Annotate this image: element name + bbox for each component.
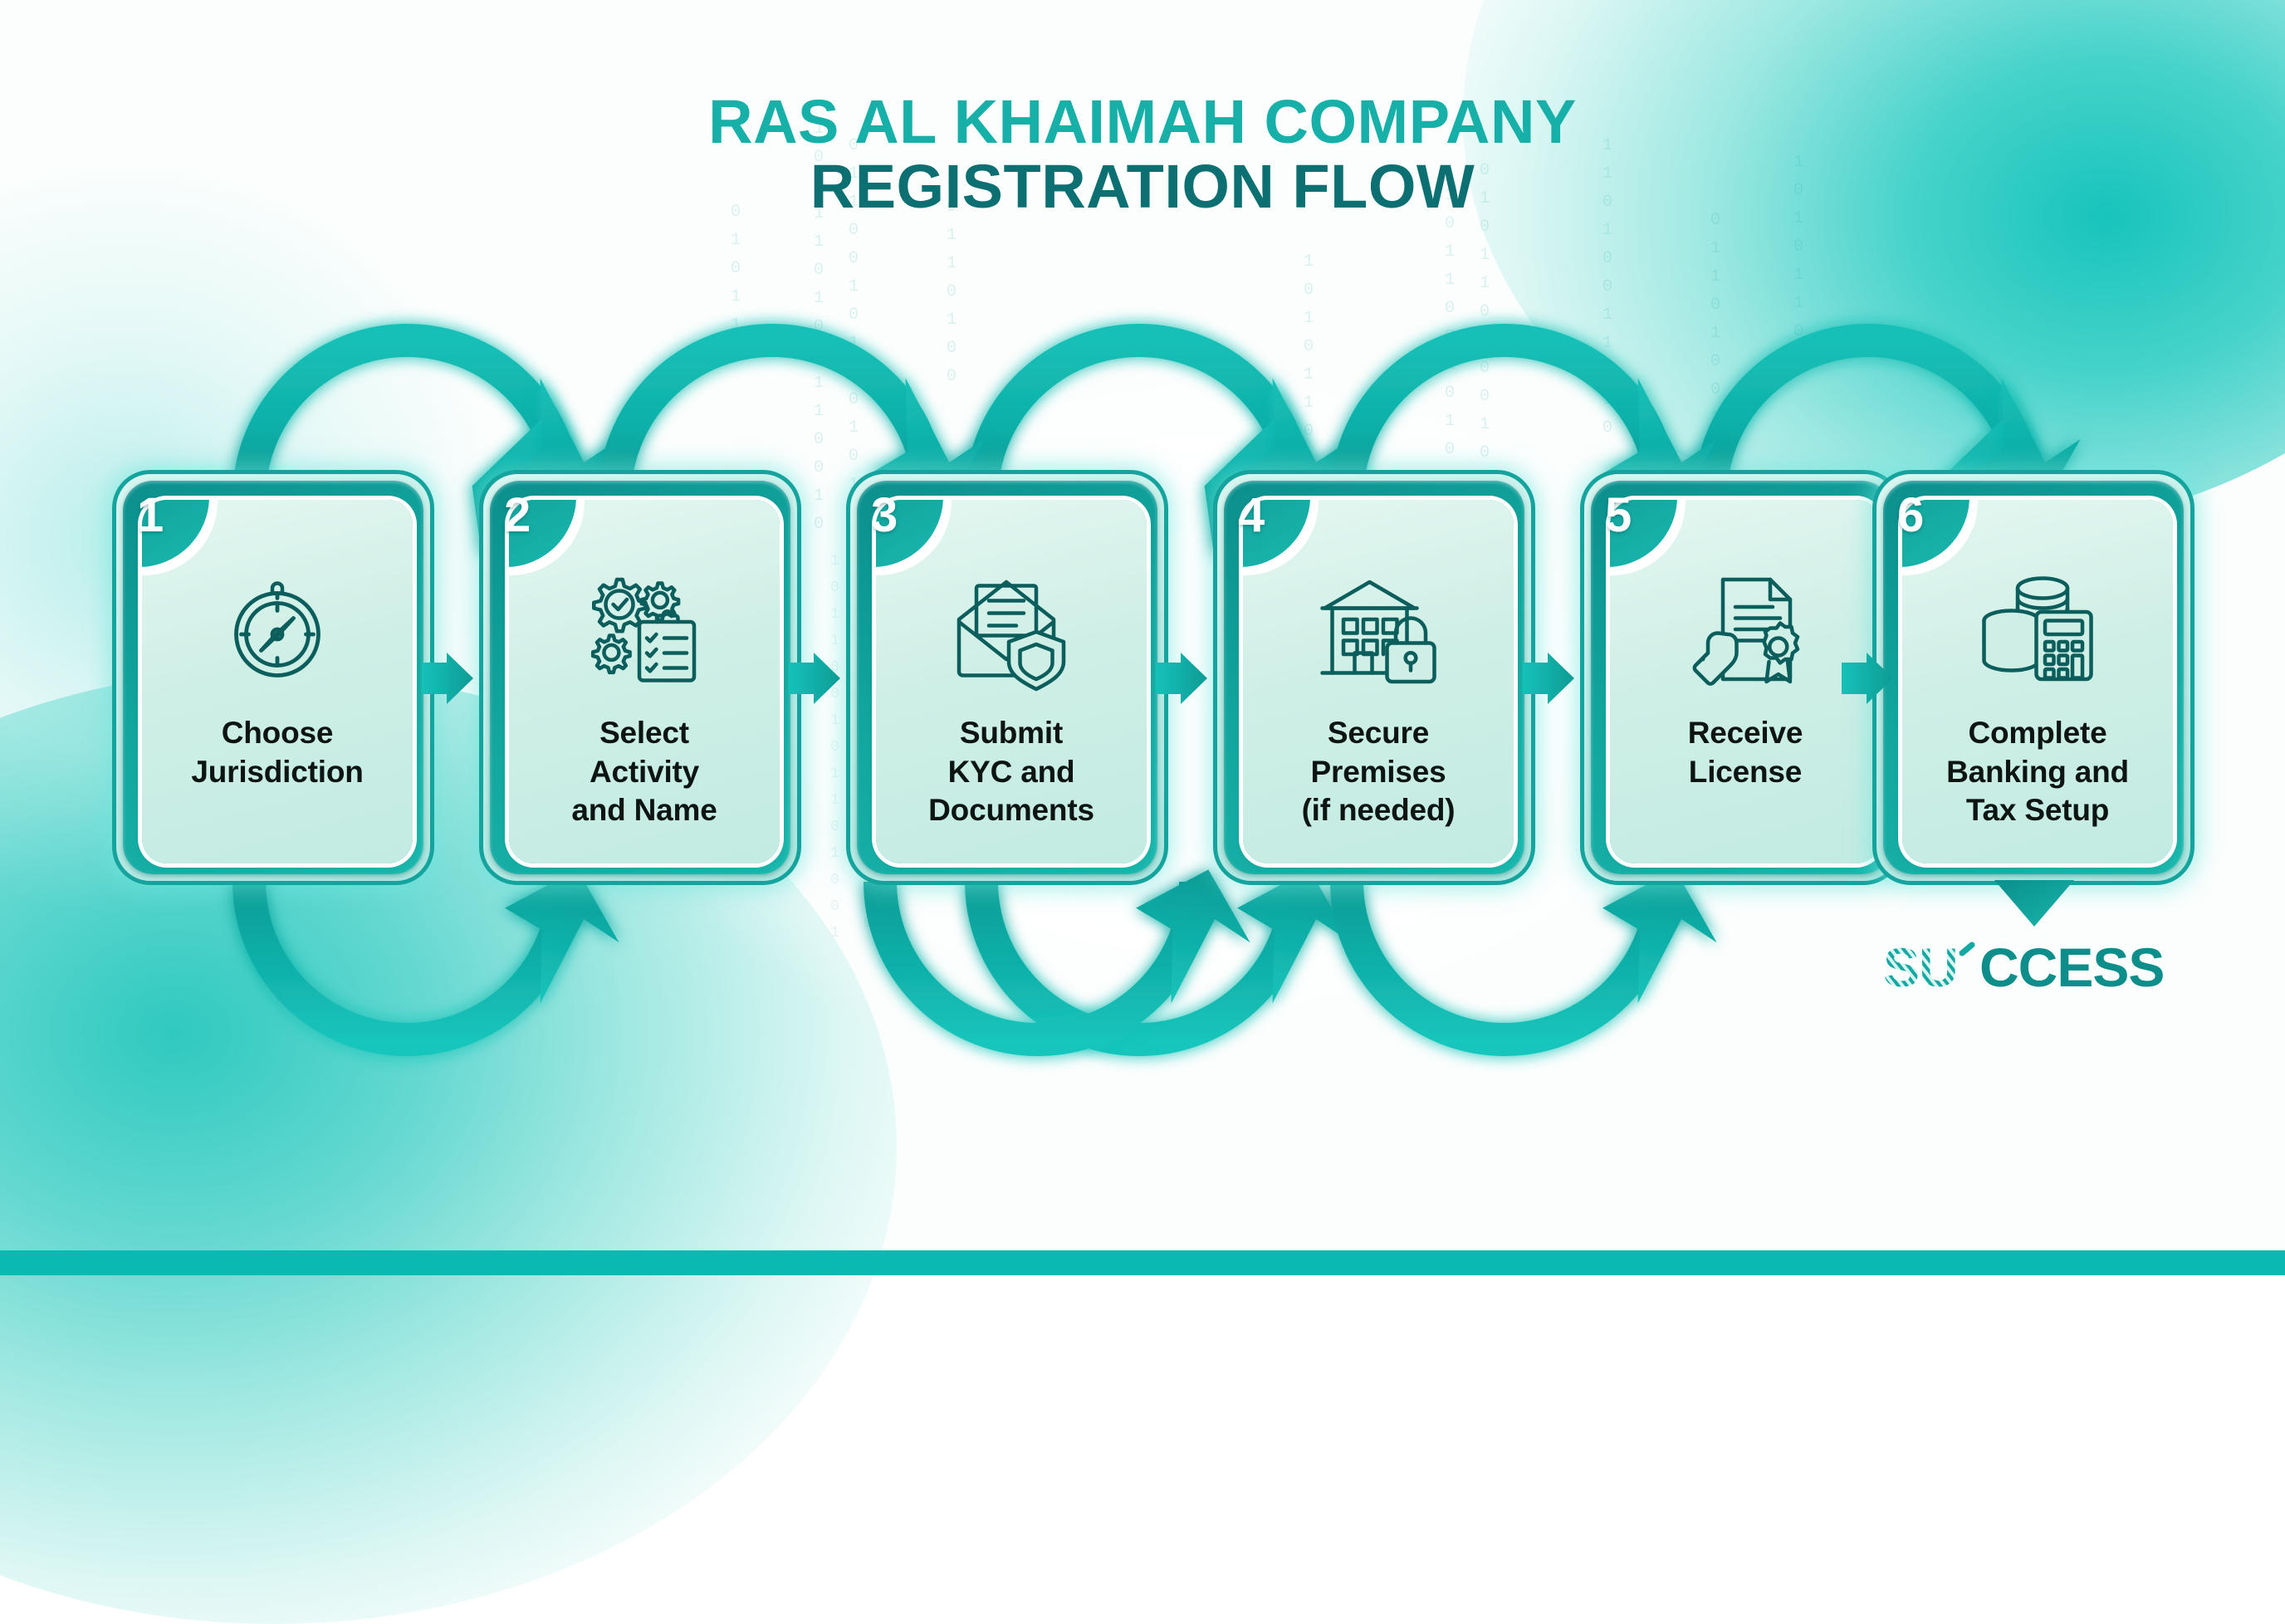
logo-striped-letters: SU bbox=[1883, 937, 1958, 998]
card-panel: Submit KYC and Documents bbox=[876, 500, 1147, 863]
step-number: 4 bbox=[1238, 492, 1265, 540]
step-number: 2 bbox=[504, 492, 531, 540]
process-flow-diagram: 1 Choose Jurisdiction bbox=[0, 0, 2285, 1275]
right-arrow-icon-1 bbox=[422, 651, 473, 706]
bottom-arc-group-2 bbox=[880, 860, 1260, 1039]
curved-arrow-icon-bottom-3 bbox=[1347, 860, 1726, 1039]
card-panel: Select Activity and Name bbox=[509, 500, 780, 863]
compass-icon bbox=[142, 560, 413, 699]
step-card-3[interactable]: 3 Submit KYC and Documents bbox=[846, 470, 1168, 885]
gears-clipboard-icon bbox=[509, 560, 780, 699]
certificate-hand-icon bbox=[1610, 560, 1881, 699]
card-panel: Secure Premises (if needed) bbox=[1243, 500, 1514, 863]
building-lock-icon bbox=[1243, 560, 1514, 699]
curved-arrow-icon-bottom-2 bbox=[981, 860, 1361, 1039]
right-arrow-icon-3 bbox=[1156, 651, 1207, 706]
right-arrow-icon-4 bbox=[1523, 651, 1574, 706]
step-number: 6 bbox=[1897, 492, 1924, 540]
step-card-1[interactable]: 1 Choose Jurisdiction bbox=[112, 470, 434, 885]
step-card-2[interactable]: 2 bbox=[479, 470, 801, 885]
step-card-4[interactable]: 4 bbox=[1213, 470, 1535, 885]
coins-calculator-icon bbox=[1902, 560, 2173, 699]
logo-accent-mark bbox=[1962, 945, 1972, 953]
logo-solid-letters: CCESS bbox=[1979, 937, 2164, 998]
step-number: 1 bbox=[137, 492, 164, 540]
envelope-shield-icon bbox=[876, 560, 1147, 699]
step-label: Secure Premises (if needed) bbox=[1255, 714, 1502, 830]
card-6-pointer-tail bbox=[1994, 880, 2074, 927]
step-label: Complete Banking and Tax Setup bbox=[1914, 714, 2161, 830]
curved-arrow-icon-bottom-1 bbox=[249, 860, 629, 1039]
success-logo: SU CCESS SUCCESS bbox=[1883, 937, 2190, 1003]
step-number: 5 bbox=[1605, 492, 1632, 540]
bottom-arc-group bbox=[249, 860, 1726, 1039]
step-label: Choose Jurisdiction bbox=[154, 714, 401, 791]
step-label: Submit KYC and Documents bbox=[888, 714, 1135, 830]
right-arrow-icon-2 bbox=[789, 651, 840, 706]
curved-arrow-icon-bottom-4 bbox=[880, 860, 1260, 1039]
card-panel: Choose Jurisdiction bbox=[142, 500, 413, 863]
step-label: Receive License bbox=[1622, 714, 1869, 791]
step-number: 3 bbox=[871, 492, 898, 540]
step-card-6[interactable]: 6 bbox=[1872, 470, 2194, 885]
step-label: Select Activity and Name bbox=[521, 714, 768, 830]
card-panel: Complete Banking and Tax Setup bbox=[1902, 500, 2173, 863]
right-arrow-icon-5 bbox=[1842, 651, 1893, 706]
card-panel: Receive License bbox=[1610, 500, 1881, 863]
